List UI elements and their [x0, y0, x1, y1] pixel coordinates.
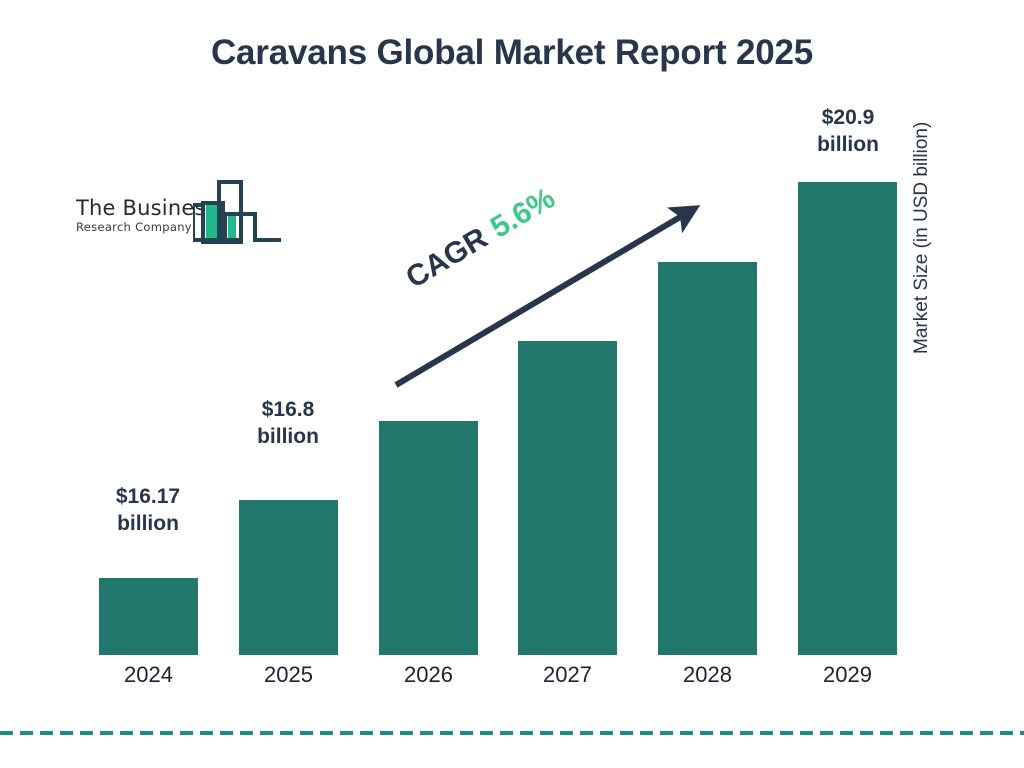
- bar-2027[interactable]: [518, 341, 617, 655]
- chart-page: Caravans Global Market Report 2025 The B…: [0, 0, 1024, 768]
- cagr-label-value: 5.6%: [485, 181, 561, 244]
- y-axis-title: Market Size (in USD billion): [911, 0, 933, 354]
- bar-value-2029-amount: $20.9: [778, 104, 918, 131]
- bar-value-2024-unit: billion: [78, 510, 218, 537]
- bar-2029[interactable]: [798, 182, 897, 655]
- x-tick-2025: 2025: [239, 662, 338, 688]
- bar-2025[interactable]: [239, 500, 338, 655]
- bar-value-2024-amount: $16.17: [78, 483, 218, 510]
- cagr-annotation: CAGR5.6%: [400, 181, 561, 295]
- x-tick-2024: 2024: [99, 662, 198, 688]
- bar-value-2024: $16.17 billion: [78, 483, 218, 538]
- bottom-divider: [0, 731, 1024, 735]
- x-tick-2027: 2027: [518, 662, 617, 688]
- bar-value-2025-amount: $16.8: [218, 396, 358, 423]
- bar-2028[interactable]: [658, 262, 757, 655]
- bar-2024[interactable]: [99, 578, 198, 655]
- x-tick-2026: 2026: [379, 662, 478, 688]
- bar-2026[interactable]: [379, 421, 478, 655]
- x-tick-2029: 2029: [798, 662, 897, 688]
- cagr-label-word: CAGR: [400, 221, 493, 294]
- bar-value-2025: $16.8 billion: [218, 396, 358, 451]
- bar-value-2029: $20.9 billion: [778, 104, 918, 159]
- x-tick-2028: 2028: [658, 662, 757, 688]
- bar-value-2025-unit: billion: [218, 423, 358, 450]
- bar-chart-plot-area: $16.17 billion $16.8 billion $20.9 billi…: [0, 0, 1024, 768]
- bar-value-2029-unit: billion: [778, 131, 918, 158]
